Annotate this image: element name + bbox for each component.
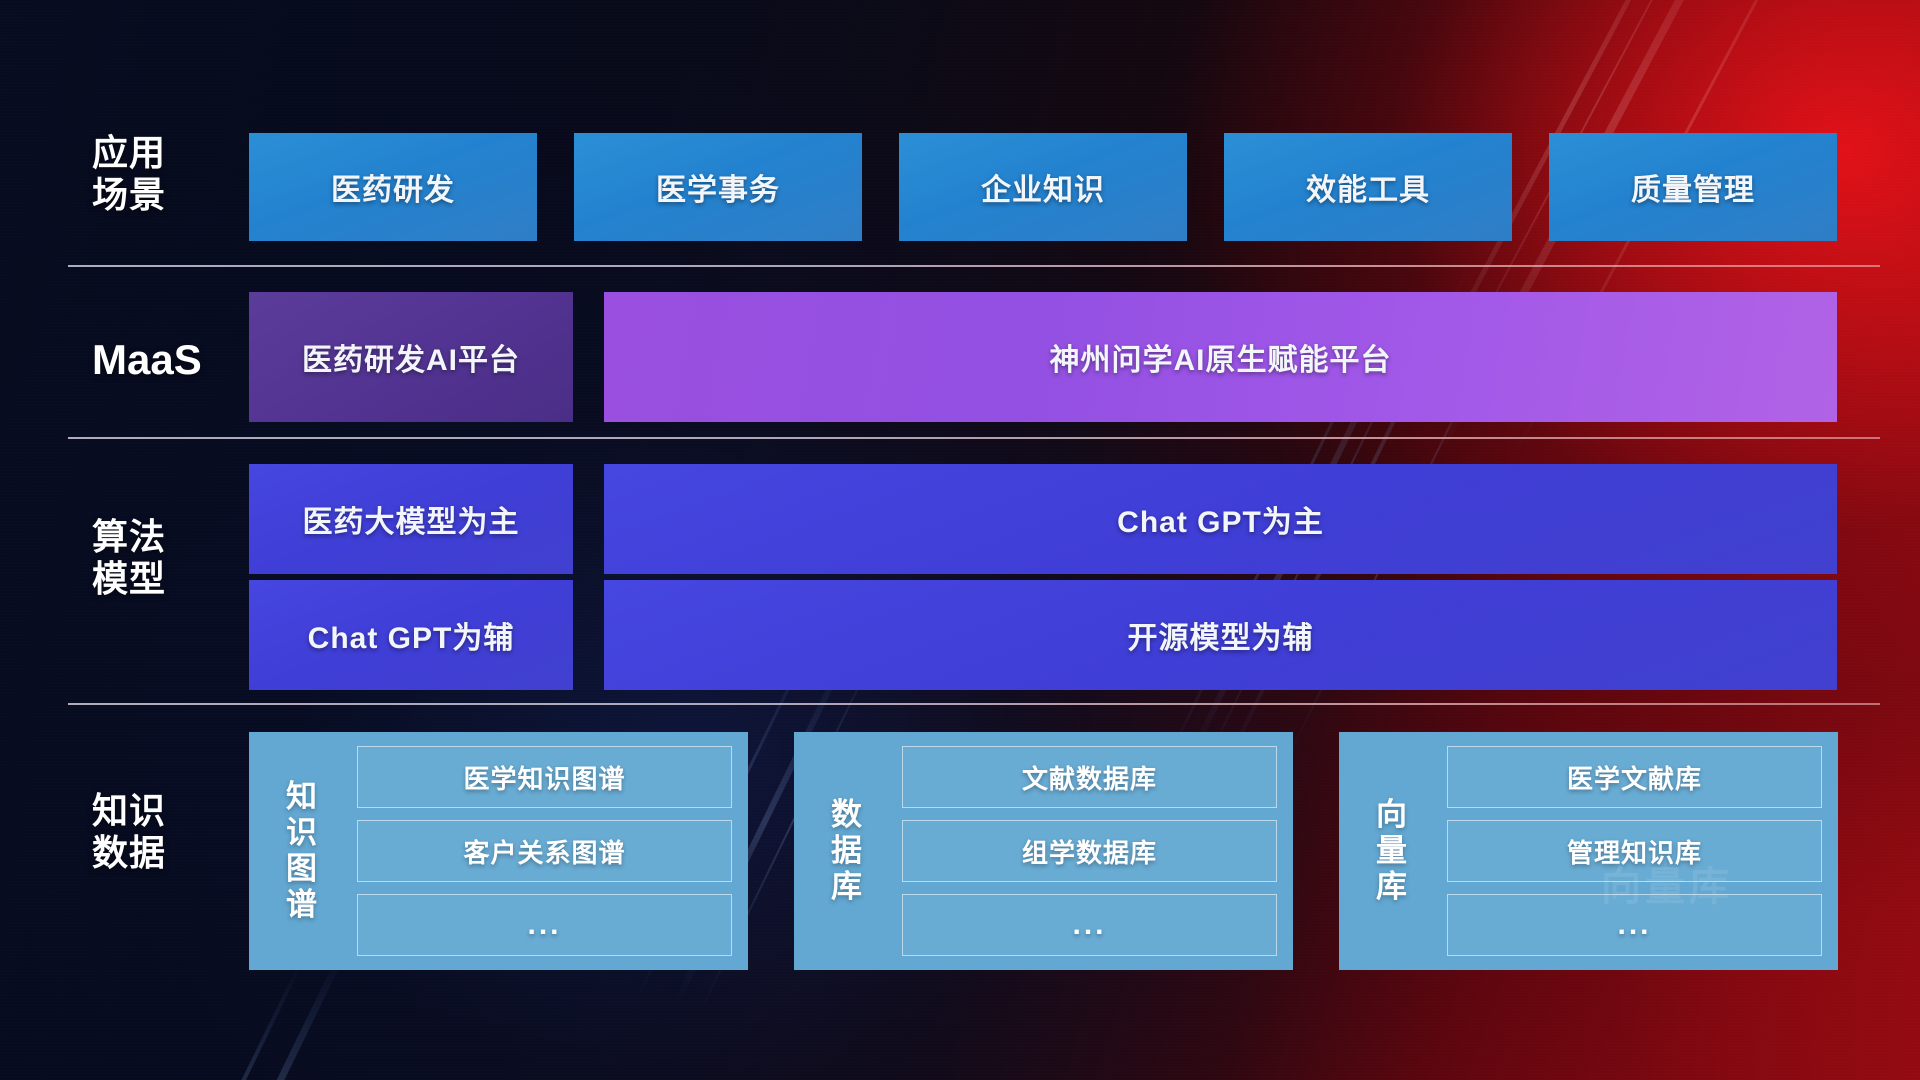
tile-maas-shenzhou-wenxue-platform[interactable]: 神州问学AI原生赋能平台 xyxy=(604,292,1837,422)
tile-algo-right-secondary[interactable]: 开源模型为辅 xyxy=(604,580,1837,690)
tile-label: 医药研发AI平台 xyxy=(302,335,520,379)
knowledge-item[interactable]: 组学数据库 xyxy=(902,820,1277,882)
tile-label: 医药大模型为主 xyxy=(303,497,520,541)
divider-1 xyxy=(68,265,1880,267)
tile-app-scenario-4[interactable]: 效能工具 xyxy=(1224,133,1512,241)
knowledge-item-more[interactable]: ... xyxy=(357,894,732,956)
tile-app-scenario-2[interactable]: 医学事务 xyxy=(574,133,862,241)
tile-algo-right-primary[interactable]: Chat GPT为主 xyxy=(604,464,1837,574)
tile-algo-left-secondary[interactable]: Chat GPT为辅 xyxy=(249,580,573,690)
knowledge-item[interactable]: 医学知识图谱 xyxy=(357,746,732,808)
architecture-diagram: 应用 场景 医药研发 医学事务 企业知识 效能工具 质量管理 MaaS 医药研发… xyxy=(0,0,1920,1080)
row-label-maas: MaaS xyxy=(92,336,242,385)
knowledge-item[interactable]: 管理知识库 xyxy=(1447,820,1822,882)
knowledge-panel-vector-database[interactable]: 向量库 医学文献库 管理知识库 ... 向量库 xyxy=(1339,732,1838,970)
divider-3 xyxy=(68,703,1880,705)
row-label-application-scenarios: 应用 场景 xyxy=(92,132,242,216)
tile-label: 神州问学AI原生赋能平台 xyxy=(1050,335,1392,379)
knowledge-panel-title: 向量库 xyxy=(1363,797,1421,905)
knowledge-item[interactable]: 客户关系图谱 xyxy=(357,820,732,882)
knowledge-panel-items: 文献数据库 组学数据库 ... xyxy=(902,746,1277,956)
tile-maas-pharma-ai-platform[interactable]: 医药研发AI平台 xyxy=(249,292,573,422)
row-label-line: MaaS xyxy=(92,336,242,385)
knowledge-panel-database[interactable]: 数据库 文献数据库 组学数据库 ... xyxy=(794,732,1293,970)
row-label-line: 场景 xyxy=(92,174,242,216)
knowledge-item-more[interactable]: ... xyxy=(1447,894,1822,956)
tile-app-scenario-5[interactable]: 质量管理 xyxy=(1549,133,1837,241)
tile-label: Chat GPT为辅 xyxy=(308,613,515,657)
tile-label: Chat GPT为主 xyxy=(1117,497,1324,541)
tile-label: 开源模型为辅 xyxy=(1128,613,1314,657)
tile-label: 效能工具 xyxy=(1306,165,1430,209)
tile-label: 医学事务 xyxy=(656,165,780,209)
knowledge-item-more[interactable]: ... xyxy=(902,894,1277,956)
knowledge-item[interactable]: 文献数据库 xyxy=(902,746,1277,808)
row-label-line: 知识 xyxy=(92,790,242,832)
row-label-line: 应用 xyxy=(92,132,242,174)
knowledge-panel-items: 医学知识图谱 客户关系图谱 ... xyxy=(357,746,732,956)
knowledge-panel-knowledge-graph[interactable]: 知识图谱 医学知识图谱 客户关系图谱 ... xyxy=(249,732,748,970)
knowledge-panel-title: 数据库 xyxy=(818,797,876,905)
divider-2 xyxy=(68,437,1880,439)
row-label-line: 数据 xyxy=(92,832,242,874)
tile-label: 医药研发 xyxy=(331,165,455,209)
knowledge-panel-items: 医学文献库 管理知识库 ... xyxy=(1447,746,1822,956)
knowledge-item[interactable]: 医学文献库 xyxy=(1447,746,1822,808)
row-label-line: 模型 xyxy=(92,558,242,600)
tile-label: 质量管理 xyxy=(1631,165,1755,209)
tile-label: 企业知识 xyxy=(981,165,1105,209)
tile-algo-left-primary[interactable]: 医药大模型为主 xyxy=(249,464,573,574)
knowledge-panel-title: 知识图谱 xyxy=(273,779,331,923)
row-label-line: 算法 xyxy=(92,516,242,558)
tile-app-scenario-1[interactable]: 医药研发 xyxy=(249,133,537,241)
row-label-knowledge-data: 知识 数据 xyxy=(92,790,242,874)
tile-app-scenario-3[interactable]: 企业知识 xyxy=(899,133,1187,241)
row-label-algorithm-model: 算法 模型 xyxy=(92,516,242,600)
